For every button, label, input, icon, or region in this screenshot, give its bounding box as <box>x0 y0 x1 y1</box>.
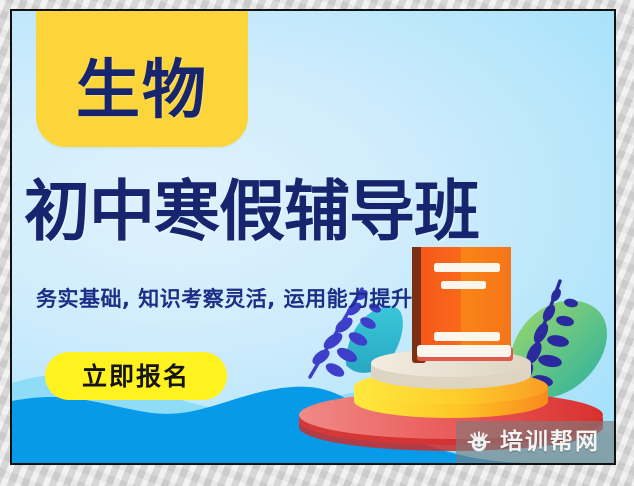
page-title: 初中寒假辅导班 <box>24 179 604 245</box>
subject-badge-label: 生物 <box>76 59 208 147</box>
watermark: 培训帮网 <box>456 421 614 463</box>
enroll-now-button[interactable]: 立即报名 <box>45 352 227 400</box>
screenshot-canvas: 生物 初中寒假辅导班 务实基础, 知识考察灵活, 运用能力提升 立即报名 <box>0 0 634 486</box>
poster: 生物 初中寒假辅导班 务实基础, 知识考察灵活, 运用能力提升 立即报名 <box>10 9 616 465</box>
sun-face-icon <box>466 429 492 455</box>
subtitle-text: 务实基础, 知识考察灵活, 运用能力提升 <box>36 289 413 310</box>
enroll-now-label: 立即报名 <box>82 364 190 389</box>
watermark-text: 培训帮网 <box>500 431 600 454</box>
orange-book <box>412 247 513 363</box>
subject-badge: 生物 <box>36 9 248 147</box>
